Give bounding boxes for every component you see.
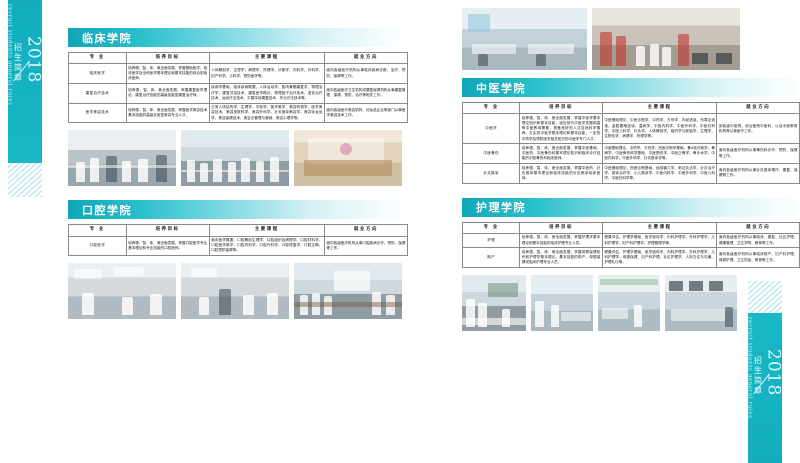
cell-goal: 培养德、智、体、美全面发展，掌握中医学基本理论知识和基本技能，适应现代中医学发展… — [520, 114, 603, 144]
table-clinical: 专 业 培养目标 主要课程 就业方向 临床医学 培养德、智、体、美全面发展，掌握… — [68, 52, 408, 123]
brochure-spread: 2018 招生简章 recruit students general rules… — [0, 0, 800, 463]
col-goal: 培养目标 — [520, 103, 603, 114]
dental-simulation-lab-photo — [181, 263, 289, 319]
table-row: 口腔医学 培养德、智、体、美全面发展，掌握口腔医学专业基本理论和专业技能的口腔医… — [69, 236, 408, 256]
ribbon-year-left: 2018 — [24, 36, 44, 83]
left-page-column: 临床学院 专 业 培养目标 主要课程 就业方向 临床医学 培养德、智、体、美全面… — [68, 28, 408, 319]
nursing-classroom-photo — [181, 130, 289, 186]
icu-ward-photo — [598, 275, 660, 331]
col-employment: 就业方向 — [324, 225, 407, 236]
cell-employment: 面向各级医疗机构从事骨伤科诊疗、预防、保健等工作。 — [717, 144, 800, 164]
rehab-ward-photo — [462, 8, 587, 70]
table-row: 医学美容技术 培养德、智、体、美全面发展，掌握医学美容技术基本技能的高级实用型美… — [69, 103, 408, 123]
cell-major: 医学美容技术 — [69, 103, 127, 123]
col-employment: 就业方向 — [717, 222, 800, 233]
section-title-clinical: 临床学院 — [68, 30, 132, 46]
cell-employment: 面向各级医疗机构从事针灸推拿理疗、康复、保健等工作。 — [717, 164, 800, 184]
cell-employment: 面向各级医疗美容机构、化妆品企业等部门从事医学美容技术工作。 — [324, 103, 407, 123]
cell-major: 中医学 — [463, 114, 520, 144]
cell-goal: 培养德、智、体、美全面发展，掌握中医基础、中医药、中医骨伤科基本理论知识和临床诊… — [520, 144, 603, 164]
col-courses: 主要课程 — [602, 103, 717, 114]
reception-lobby-photo — [294, 130, 402, 186]
section-clinical: 临床学院 专 业 培养目标 主要课程 就业方向 临床医学 培养德、智、体、美全面… — [68, 28, 408, 186]
cell-courses: 正常人体结构学、生理学、中医学、医学美学、美容药物学、医学美容技术、美容皮肤科学… — [209, 103, 324, 123]
cell-courses: 临床医学概要、口腔解剖生理学、口腔组织及病理学、口腔材料学、口腔医学美学、口腔内… — [209, 236, 324, 256]
table-tcm: 专 业 培养目标 主要课程 就业方向 中医学 培养德、智、体、美全面发展，掌握中… — [462, 102, 800, 184]
col-major: 专 业 — [463, 103, 520, 114]
cell-major: 口腔医学 — [69, 236, 127, 256]
cell-major: 护理 — [463, 233, 520, 247]
cell-courses: 疾病学基础、临床疾病概要、人体运动学、肌肉骨骼康复学、物理治疗学、康复评定技术、… — [209, 83, 324, 103]
photo-strip-stomatology — [68, 263, 408, 319]
nursing-ward-photo — [531, 275, 593, 331]
cell-major: 针灸推拿 — [463, 164, 520, 184]
table-header-row: 专 业 培养目标 主要课程 就业方向 — [463, 222, 800, 233]
table-stomatology: 专 业 培养目标 主要课程 就业方向 口腔医学 培养德、智、体、美全面发展，掌握… — [68, 224, 408, 256]
ribbon-en-subtitle-right: recruit students general rules — [747, 317, 753, 419]
photo-strip-clinical — [68, 130, 408, 186]
right-ribbon-decoration: 2018 招生简章 recruit students general rules — [748, 313, 782, 463]
table-row: 针灸推拿 培养德、智、体、美全面发展，掌握中医药、针灸推拿基本理论和临床技能的针… — [463, 164, 800, 184]
section-header-stomatology: 口腔学院 — [68, 200, 408, 219]
table-row: 康复治疗技术 培养德、智、体、美全面发展，掌握康复医学理论、康复治疗技能的高级技… — [69, 83, 408, 103]
cell-courses: 中医基础理论、西医诊断基础、经络腧穴学、刺法灸法学、针灸治疗学、推拿治疗学、小儿… — [602, 164, 717, 184]
cell-goal: 培养德、智、体、美全面发展，掌握医学美容技术基本技能的高级实用型美容专业人才。 — [126, 103, 209, 123]
col-major: 专 业 — [69, 53, 127, 64]
equipment-room-photo — [665, 275, 737, 331]
section-title-tcm: 中医学院 — [462, 80, 526, 96]
photo-strip-tcm-top — [462, 8, 800, 70]
cell-employment: 面向各级医疗机构从事临床疾病诊断、治疗、预防、保健等工作。 — [324, 64, 407, 84]
section-stomatology: 口腔学院 专 业 培养目标 主要课程 就业方向 口腔医学 培养德、智、体、美全面… — [68, 200, 408, 319]
section-title-nursing: 护理学院 — [462, 199, 526, 215]
cell-goal: 培养德、智、体、美全面发展，掌握口腔医学专业基本理论和专业技能的口腔医师。 — [126, 236, 209, 256]
maternity-training-photo — [462, 275, 526, 331]
cell-employment: 面向各级医疗卫生机构或康复保健机构从事康复管理、保健、预防、治疗等相关工作。 — [324, 83, 407, 103]
table-row: 护理 培养德、智、体、美全面发展，掌握护理学基本理论和基本技能的临床护理专业人员… — [463, 233, 800, 247]
table-header-row: 专 业 培养目标 主要课程 就业方向 — [69, 225, 408, 236]
photo-strip-nursing — [462, 275, 800, 331]
cell-employment: 面向各级医疗机构从事临床、康复、社区护理、健康管理、卫生学院、教育等工作。 — [717, 233, 800, 247]
col-major: 专 业 — [69, 225, 127, 236]
computer-lab-photo — [592, 8, 740, 70]
cell-employment: 到各级中医院、综合医院中医科，以及中医教育机构等从事医疗工作。 — [717, 114, 800, 144]
table-nursing: 专 业 培养目标 主要课程 就业方向 护理 培养德、智、体、美全面发展，掌握护理… — [462, 222, 800, 268]
cell-major: 临床医学 — [69, 64, 127, 84]
dental-skills-classroom-photo — [294, 263, 402, 319]
table-row: 中医学 培养德、智、体、美全面发展，掌握中医学基本理论知识和基本技能，适应现代中… — [463, 114, 800, 144]
cell-employment: 面向各级医疗机构从事口腔疾病诊疗、预防、保健等工作。 — [324, 236, 407, 256]
right-page-column: 中医学院 专 业 培养目标 主要课程 就业方向 中医学 培养德、智、体、美全面发… — [462, 8, 800, 331]
section-header-tcm: 中医学院 — [462, 78, 800, 97]
cell-goal: 培养德、智、体、美全面发展，掌握中医药、针灸推拿基本理论和临床技能的针灸推拿临床… — [520, 164, 603, 184]
cell-courses: 中医基础理论、中药学、方剂学、西医诊断学基础、骨X线诊断学、骨病学、中医骨伤科学… — [602, 144, 717, 164]
col-major: 专 业 — [463, 222, 520, 233]
cell-courses: 健康评估、护理学基础、医学遗传学、内科护理学、外科护理学、儿科护理学、妇产科护理… — [602, 233, 717, 247]
cell-goal: 培养德、智、体、美全面发展，掌握护理学基本理论和基本技能的临床护理专业人员。 — [520, 233, 603, 247]
cell-goal: 培养德、智、体、美全面发展，掌握基础医学、临床医学及全科医学基本理论和基本技能的… — [126, 64, 209, 84]
section-nursing: 护理学院 专 业 培养目标 主要课程 就业方向 护理 培养德、智、体、美全面发展… — [462, 198, 800, 331]
cell-major: 康复治疗技术 — [69, 83, 127, 103]
cell-goal: 培养德、智、体、美全面发展，掌握康复医学理论、康复治疗技能的高级技能型康复治疗师… — [126, 83, 209, 103]
section-header-clinical: 临床学院 — [68, 28, 408, 47]
table-header-row: 专 业 培养目标 主要课程 就业方向 — [69, 53, 408, 64]
left-ribbon-decoration: 2018 招生简章 recruit students general rules — [8, 0, 42, 163]
ribbon-en-subtitle-left: recruit students general rules — [7, 4, 13, 106]
col-employment: 就业方向 — [717, 103, 800, 114]
table-row: 中医骨伤 培养德、智、体、美全面发展，掌握中医基础、中医药、中医骨伤科基本理论知… — [463, 144, 800, 164]
anatomy-lab-photo — [68, 130, 176, 186]
table-header-row: 专 业 培养目标 主要课程 就业方向 — [463, 103, 800, 114]
col-employment: 就业方向 — [324, 53, 407, 64]
cell-employment: 面向各级医疗机构从事临床助产、妇产科护理、母婴护理、卫生防疫、教育等工作。 — [717, 248, 800, 268]
table-row: 临床医学 培养德、智、体、美全面发展，掌握基础医学、临床医学及全科医学基本理论和… — [69, 64, 408, 84]
col-goal: 培养目标 — [126, 225, 209, 236]
cell-courses: 人体解剖学、生理学、病理学、药理学、诊断学、内科学、外科学、妇产科学、儿科学、预… — [209, 64, 324, 84]
cell-goal: 培养德、智、体、美全面发展，掌握母婴保健知识和护理学基本理论、基本技能的助产、母… — [520, 248, 603, 268]
cell-courses: 中医基础理论、中医诊断学、中药学、方剂学、内经选读、伤寒论选读、金匮要略选读、温… — [602, 114, 717, 144]
ribbon-cn-subtitle-right: 招生简章 — [753, 356, 764, 396]
col-goal: 培养目标 — [520, 222, 603, 233]
dental-clinic-photo — [68, 263, 176, 319]
table-row: 助产 培养德、智、体、美全面发展，掌握母婴保健知识和护理学基本理论、基本技能的助… — [463, 248, 800, 268]
ribbon-cn-subtitle-left: 招生简章 — [13, 43, 24, 83]
ribbon-year-right: 2018 — [764, 349, 784, 396]
section-title-stomatology: 口腔学院 — [68, 202, 132, 218]
cell-major: 中医骨伤 — [463, 144, 520, 164]
col-courses: 主要课程 — [209, 225, 324, 236]
col-goal: 培养目标 — [126, 53, 209, 64]
cell-courses: 健康评估、护理学基础、医学遗传学、内科护理学、外科护理学、儿科护理学、母婴保健、… — [602, 248, 717, 268]
col-courses: 主要课程 — [602, 222, 717, 233]
section-header-nursing: 护理学院 — [462, 198, 800, 217]
section-tcm: 中医学院 专 业 培养目标 主要课程 就业方向 中医学 培养德、智、体、美全面发… — [462, 78, 800, 184]
col-courses: 主要课程 — [209, 53, 324, 64]
cell-major: 助产 — [463, 248, 520, 268]
